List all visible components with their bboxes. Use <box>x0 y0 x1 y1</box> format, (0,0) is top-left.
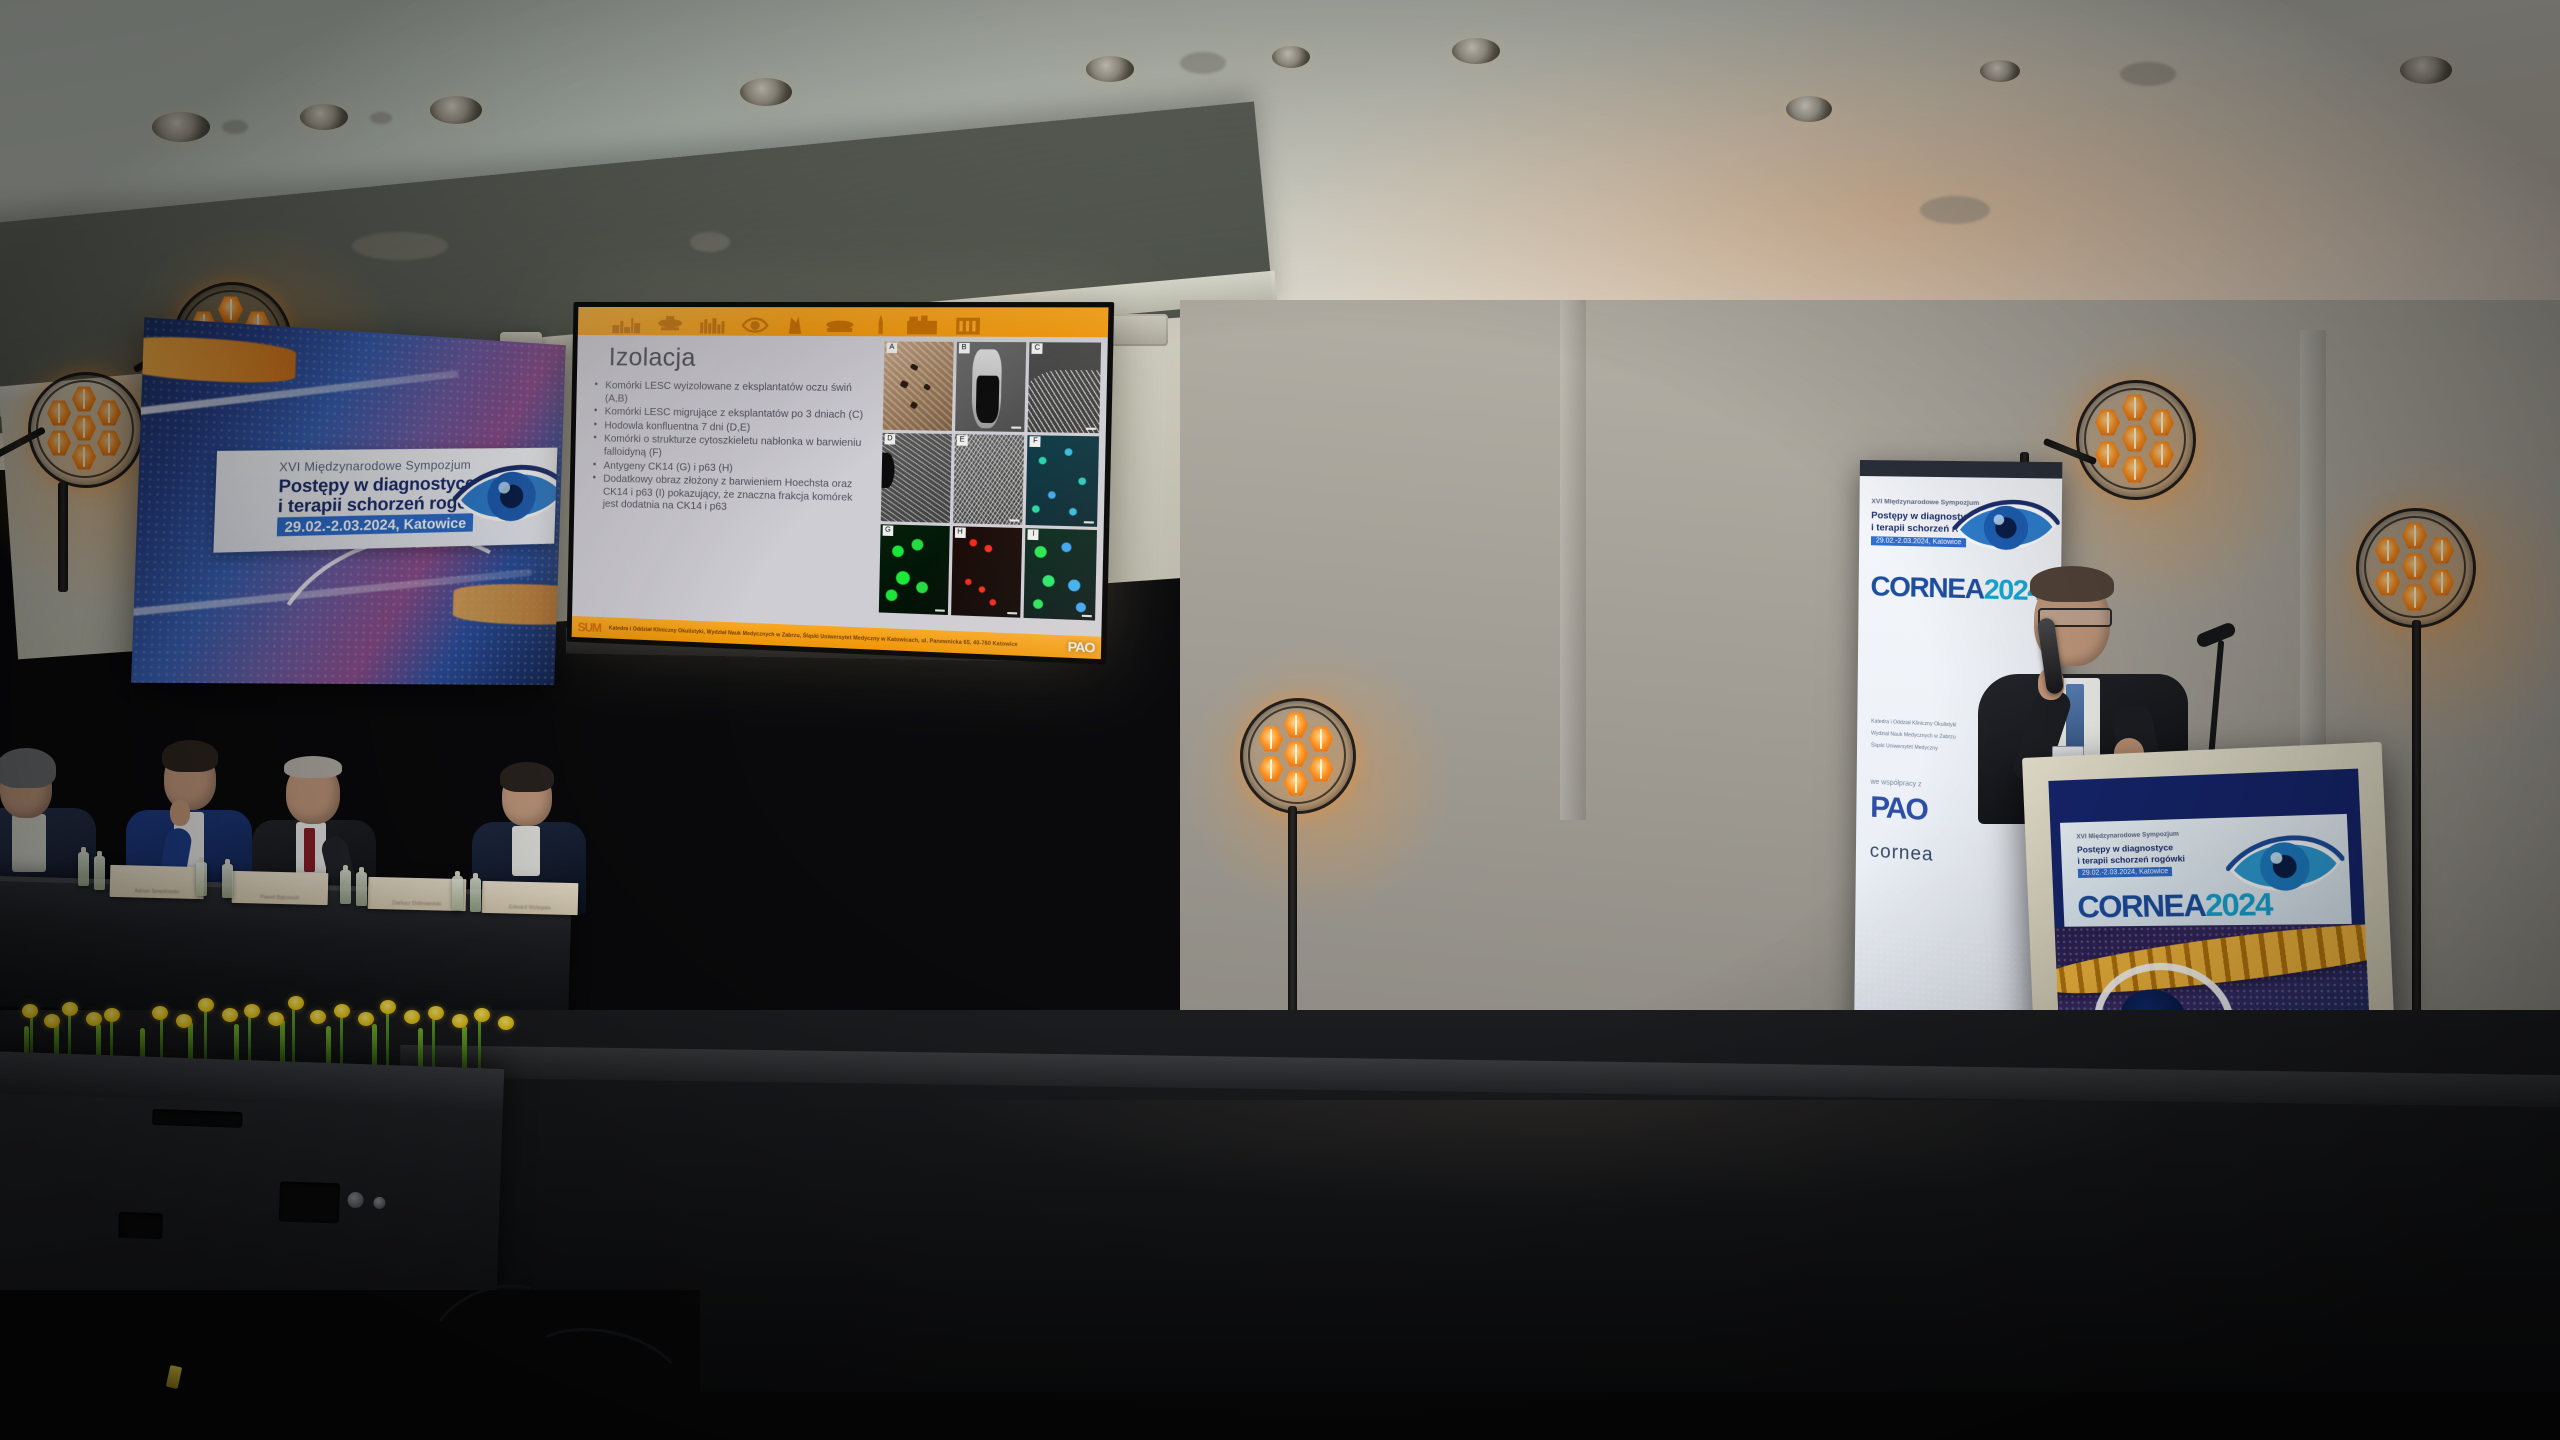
slide-text-column: Izolacja Komórki LESC wyizolowane z eksp… <box>572 335 883 628</box>
projection-screen: Izolacja Komórki LESC wyizolowane z eksp… <box>572 307 1109 659</box>
rollup-brand-word: CORNEA <box>1870 570 1984 604</box>
scale-bar <box>935 609 945 611</box>
daffodil-bloom <box>152 1006 168 1020</box>
monitor-port <box>152 1109 243 1128</box>
slide-bullet: Komórki LESC wyizolowane z eksplantatów … <box>592 380 873 409</box>
backdrop-line1: XVI Międzynarodowe Sympozjum <box>279 458 471 475</box>
hall-icon <box>824 314 856 335</box>
daffodil-bloom <box>44 1014 60 1028</box>
ceiling-vent <box>222 120 248 134</box>
micrograph-label: G <box>883 525 894 536</box>
micrograph-label: D <box>884 434 895 445</box>
speaker-hair <box>2030 566 2114 602</box>
nameplate-text: Paweł Bąkowski <box>260 895 299 902</box>
daffodil-bloom <box>104 1008 120 1022</box>
daffodil-bloom <box>244 1004 260 1018</box>
skyline-icon <box>611 314 641 334</box>
daffodil-bloom <box>198 998 214 1012</box>
water-bottle[interactable] <box>78 852 89 886</box>
scale-bar <box>1010 519 1020 521</box>
water-bottle[interactable] <box>340 870 351 904</box>
ceiling-vent <box>370 112 392 124</box>
daffodil-bloom <box>474 1008 490 1022</box>
rollup-partner-sub: cornea <box>1870 841 1934 867</box>
nameplate-text: Dariusz Dobrowolski <box>392 900 441 907</box>
stage-light-fixture <box>28 372 144 488</box>
ceiling-downlight <box>1272 46 1310 68</box>
daffodil-bloom <box>268 1012 284 1026</box>
daffodil-bloom <box>498 1016 514 1030</box>
rollup-partner-label: we współpracy z <box>1870 779 1921 789</box>
nameplate-text: Edward Wylęgała <box>509 904 551 911</box>
ceiling-downlight <box>740 78 792 106</box>
water-bottle[interactable] <box>452 876 463 910</box>
sum-logo: SUM <box>578 620 602 635</box>
light-stand-arm <box>58 482 68 592</box>
slide-bullet: Dodatkowy obraz złożony z barwieniem Hoe… <box>590 473 871 518</box>
micrograph-label: F <box>1030 436 1041 447</box>
wall-rib <box>1560 300 1586 820</box>
water-bottle[interactable] <box>470 878 481 912</box>
ceiling-downlight <box>1980 60 2020 82</box>
monitor-knob[interactable] <box>347 1192 364 1209</box>
backdrop-gold-accent <box>452 583 565 626</box>
eye-logo-icon <box>2224 823 2346 910</box>
nameplate[interactable]: Paweł Bąkowski <box>232 871 329 905</box>
daffodil-bloom <box>86 1012 102 1026</box>
daffodil-bloom <box>176 1014 192 1028</box>
micrograph-label: B <box>958 343 969 354</box>
ceiling-vent <box>352 232 448 260</box>
daffodil-bloom <box>452 1014 468 1028</box>
panelist-tie <box>304 828 315 872</box>
museum-icon <box>955 315 981 336</box>
monitor-port <box>118 1212 163 1240</box>
stage-monitor-equipment <box>0 1051 504 1319</box>
podium-line3: i terapii schorzeń rogówki <box>2077 853 2185 866</box>
podium-brand-word: CORNEA <box>2077 887 2206 925</box>
stage-backdrop-banner: XVI Międzynarodowe Sympozjum Postępy w d… <box>131 317 566 685</box>
stem <box>478 1016 481 1076</box>
ceiling-downlight <box>1452 38 1500 64</box>
panelist-hair <box>162 740 218 772</box>
micrograph-panel: B <box>955 342 1027 432</box>
panelist-shirt <box>12 814 46 872</box>
stage-light-fixture <box>2076 380 2196 500</box>
podium-line1: XVI Międzynarodowe Sympozjum <box>2076 831 2179 841</box>
monitor-port <box>279 1181 340 1223</box>
slide-figure-column: A B C <box>876 336 1108 636</box>
panelist-hair <box>500 762 554 792</box>
slide-header-band <box>578 307 1109 337</box>
panelist-hand <box>170 800 190 826</box>
rollup-org-line1: Katedra i Oddział Kliniczny Okulistyki <box>1871 719 1956 729</box>
ceiling-downlight <box>300 104 348 130</box>
water-bottle[interactable] <box>222 864 233 898</box>
ceiling-downlight <box>152 112 210 142</box>
ceiling-vent <box>1920 196 1990 224</box>
daffodil-bloom <box>404 1010 420 1024</box>
micrograph-label: C <box>1032 343 1043 354</box>
daffodil-bloom <box>222 1008 238 1022</box>
ceiling-vent <box>1180 52 1226 74</box>
daffodil-bloom <box>358 1012 374 1026</box>
ceiling-downlight <box>1786 96 1832 122</box>
conference-hall-photo: XVI Międzynarodowe Sympozjum Postępy w d… <box>0 0 2560 1440</box>
scale-bar <box>1082 615 1092 617</box>
pao-logo: PAO <box>1067 639 1094 656</box>
micrograph-panel: G <box>879 524 950 615</box>
nameplate-text: Adrian Smędowski <box>134 888 179 895</box>
ceiling-downlight <box>2400 56 2452 84</box>
micrograph-panel: H <box>951 526 1023 618</box>
rollup-top-rail <box>1860 460 2063 479</box>
water-bottle[interactable] <box>94 856 105 890</box>
rollup-partner-logo: PAO <box>1870 791 1927 828</box>
ceiling-vent <box>690 232 730 252</box>
slide-title: Izolacja <box>608 343 873 374</box>
nameplate[interactable]: Adrian Smędowski <box>110 865 205 899</box>
nameplate[interactable]: Edward Wylęgała <box>482 881 579 915</box>
micrograph-panel: A <box>883 341 954 430</box>
slide-bullet-list: Komórki LESC wyizolowane z eksplantatów … <box>590 380 873 519</box>
foreground-shadow-block <box>540 1392 2560 1440</box>
tower-icon <box>872 314 889 335</box>
market-icon <box>906 315 938 336</box>
daffodil-bloom <box>428 1006 444 1020</box>
backdrop-title-panel: XVI Międzynarodowe Sympozjum Postępy w d… <box>213 448 557 553</box>
micrograph-panel: D <box>881 433 952 523</box>
scale-bar <box>1012 427 1022 429</box>
micrograph-panel: C <box>1028 342 1101 433</box>
backdrop-date-badge: 29.02.-2.03.2024, Katowice <box>277 513 474 536</box>
sculpture-icon <box>785 314 808 335</box>
panelist-shirt <box>512 826 540 876</box>
stage-light-fixture <box>2356 508 2476 628</box>
micrograph-label: E <box>956 435 967 446</box>
water-bottle[interactable] <box>196 862 207 896</box>
rollup-org-line3: Śląski Uniwersytet Medyczny <box>1871 743 1938 752</box>
daffodil-bloom <box>334 1004 350 1018</box>
ceiling-vent <box>2120 62 2176 86</box>
light-stand-pole <box>2412 620 2421 1060</box>
daffodil-bloom <box>288 996 304 1010</box>
micrograph-panel: I <box>1024 528 1097 620</box>
ceiling-downlight <box>1086 56 1134 82</box>
stage-light-pool <box>600 1100 2500 1400</box>
micrograph-grid: A B C <box>879 341 1101 620</box>
micrograph-panel: F <box>1026 435 1099 527</box>
panelist-hair <box>284 756 342 778</box>
micrograph-label: I <box>1028 529 1039 540</box>
rollup-org-line2: Wydział Nauk Medycznych w Zabrzu <box>1871 731 1956 741</box>
presentation-slide: Izolacja Komórki LESC wyizolowane z eksp… <box>572 307 1109 659</box>
scale-bar <box>1008 612 1018 614</box>
panelist-hair <box>0 748 56 788</box>
podium-date-badge: 29.02.-2.03.2024, Katowice <box>2078 867 2173 878</box>
daffodil-bloom <box>22 1004 38 1018</box>
slide-body: Izolacja Komórki LESC wyizolowane z eksp… <box>572 335 1108 637</box>
scale-bar <box>1084 521 1094 523</box>
micrograph-label: H <box>955 527 966 538</box>
rollup-partner-text: PAO <box>1870 791 1927 827</box>
ceiling-downlight <box>430 96 482 124</box>
micrograph-label: A <box>886 343 897 353</box>
eye-icon <box>742 314 769 335</box>
monitor-knob[interactable] <box>373 1197 385 1209</box>
spodek-icon <box>657 314 683 334</box>
daffodil-bloom <box>62 1002 78 1016</box>
scale-bar <box>1086 428 1096 430</box>
eye-logo-icon <box>451 453 557 540</box>
buildings-icon <box>699 314 726 334</box>
water-bottle[interactable] <box>356 872 367 906</box>
micrograph-panel: E <box>953 434 1025 525</box>
daffodil-bloom <box>380 1000 396 1014</box>
daffodil-bloom <box>310 1010 326 1024</box>
stage-light-fixture <box>1240 698 1356 814</box>
